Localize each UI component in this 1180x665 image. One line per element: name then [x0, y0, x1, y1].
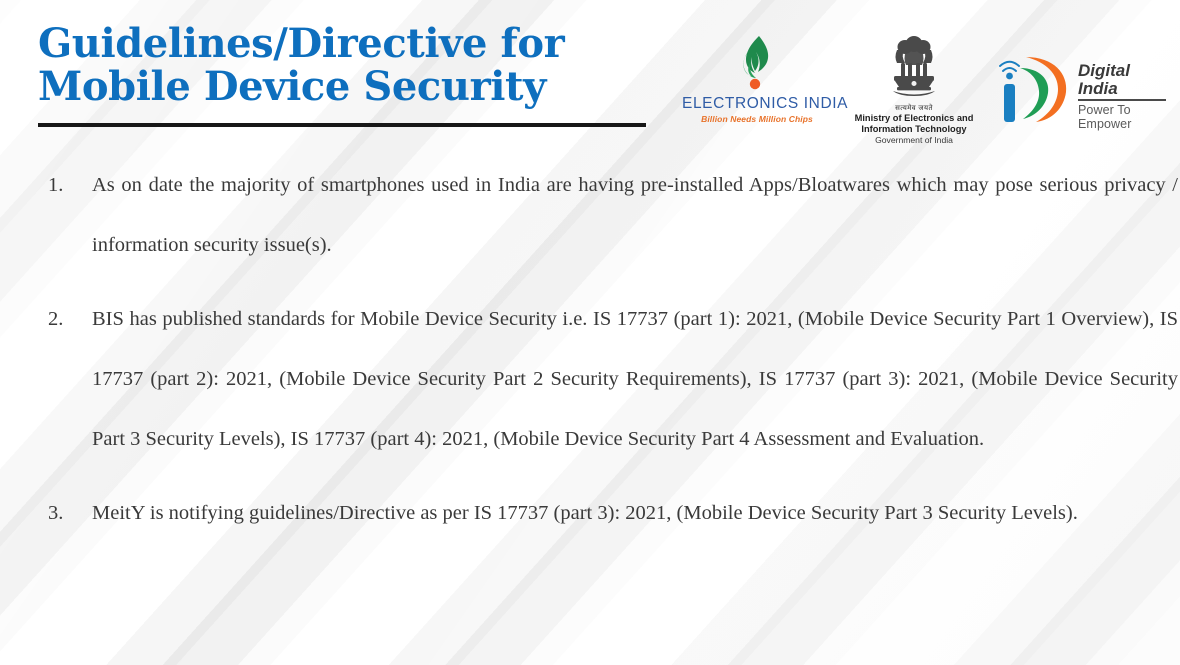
digital-india-logo: Digital India Power To Empower: [996, 26, 1166, 131]
digital-india-text: Digital India Power To Empower: [1078, 54, 1166, 131]
numbered-points-list: 1. As on date the majority of smartphone…: [40, 155, 1178, 557]
digital-india-tagline: Power To Empower: [1078, 103, 1166, 131]
ministry-name-line-1: Ministry of Electronics and: [854, 113, 974, 124]
presentation-slide: Guidelines/Directive for Mobile Device S…: [0, 0, 1180, 665]
title-underline-rule: [38, 123, 646, 127]
electronics-india-tagline: Billion Needs Million Chips: [682, 114, 832, 124]
green-flame-leaf-icon: [682, 30, 832, 94]
list-item-text: As on date the majority of smartphones u…: [92, 155, 1178, 275]
electronics-india-logo: ELECTRONICS INDIA Billion Needs Million …: [682, 26, 832, 124]
electronics-india-name: ELECTRONICS INDIA: [682, 95, 832, 113]
ministry-government-line: Government of India: [854, 135, 974, 145]
list-item: 1. As on date the majority of smartphone…: [40, 155, 1178, 275]
slide-header: Guidelines/Directive for Mobile Device S…: [0, 0, 1180, 150]
list-item-number: 3.: [40, 483, 92, 543]
list-item: 3. MeitY is notifying guidelines/Directi…: [40, 483, 1178, 543]
emblem-motto: सत्यमेव जयते: [854, 104, 974, 113]
logo-group: ELECTRONICS INDIA Billion Needs Million …: [682, 26, 1166, 145]
page-title: Guidelines/Directive for Mobile Device S…: [38, 22, 658, 108]
list-item-number: 1.: [40, 155, 92, 215]
list-item-text: BIS has published standards for Mobile D…: [92, 289, 1178, 469]
ministry-name-line-2: Information Technology: [854, 124, 974, 135]
ministry-of-electronics-and-it-logo: सत्यमेव जयते Ministry of Electronics and…: [854, 26, 974, 145]
title-block: Guidelines/Directive for Mobile Device S…: [38, 22, 658, 108]
ashoka-lion-capital-emblem-icon: [854, 26, 974, 104]
list-item-text: MeitY is notifying guidelines/Directive …: [92, 483, 1178, 543]
digital-india-name: Digital India: [1078, 62, 1166, 101]
list-item: 2. BIS has published standards for Mobil…: [40, 289, 1178, 469]
digital-india-swoosh-icon: [996, 54, 1074, 131]
list-item-number: 2.: [40, 289, 92, 349]
